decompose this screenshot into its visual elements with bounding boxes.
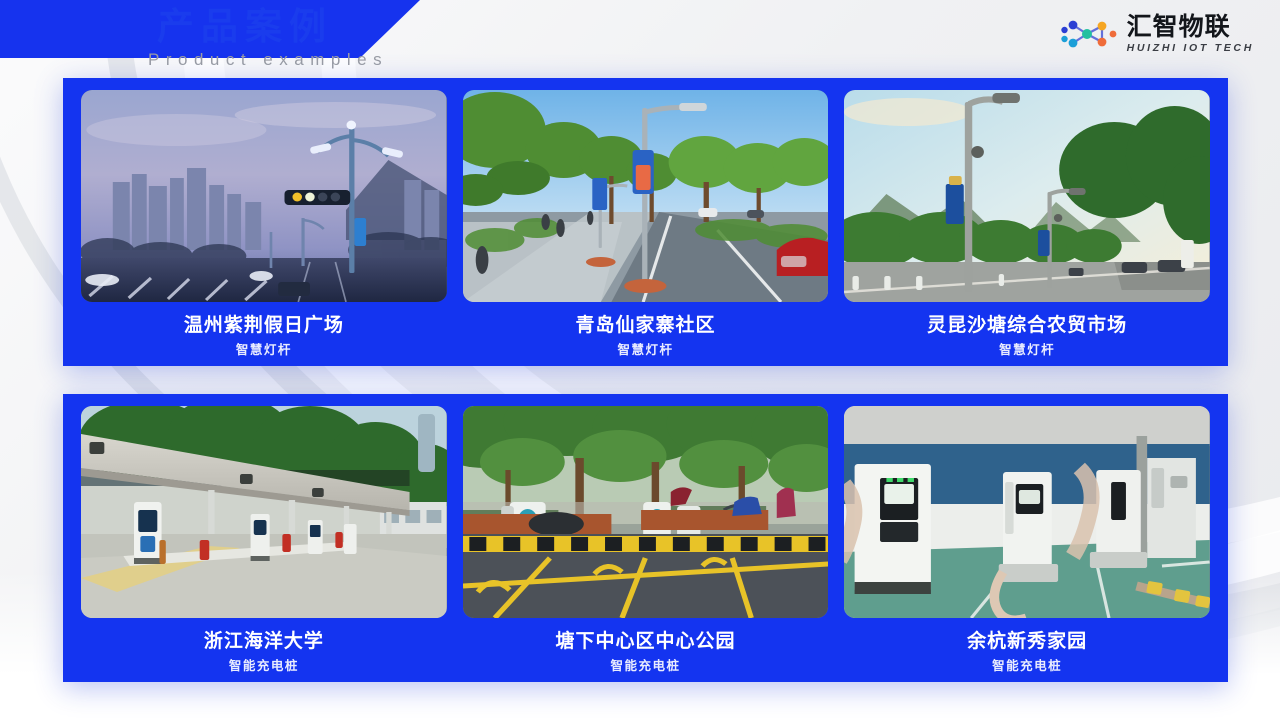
logo-name-en: HUIZHI IOT TECH <box>1127 41 1254 55</box>
canopy-charging-station-photo <box>81 406 447 618</box>
logo-name-zh: 汇智物联 <box>1127 14 1231 41</box>
page-subtitle: Product examples <box>148 50 388 70</box>
roadside-smart-pole-mountain-photo <box>844 90 1210 302</box>
case-card-list-row-2: 浙江海洋大学 智能充电桩 <box>63 394 1228 682</box>
case-card[interactable]: 余杭新秀家园 智能充电桩 <box>844 406 1210 682</box>
case-title: 青岛仙家寨社区 <box>576 314 716 338</box>
page-header: 产品案例 Product examples 汇智物 <box>0 0 1280 78</box>
case-subtitle: 智慧灯杆 <box>236 342 292 358</box>
dusk-city-street-smart-pole-photo <box>81 90 447 302</box>
case-subtitle: 智慧灯杆 <box>999 342 1055 358</box>
case-panel-row-2: 浙江海洋大学 智能充电桩 <box>63 394 1228 682</box>
case-title: 温州紫荆假日广场 <box>184 314 344 338</box>
case-card[interactable]: 温州紫荆假日广场 智慧灯杆 <box>81 90 447 366</box>
case-title: 浙江海洋大学 <box>204 630 324 654</box>
page-title: 产品案例 <box>157 3 333 51</box>
case-card-list-row-1: 温州紫荆假日广场 智慧灯杆 <box>63 78 1228 366</box>
case-card[interactable]: 浙江海洋大学 智能充电桩 <box>81 406 447 682</box>
case-subtitle: 智能充电桩 <box>611 658 681 674</box>
case-title: 余杭新秀家园 <box>967 630 1087 654</box>
green-boulevard-smart-pole-rendering <box>463 90 829 302</box>
case-title: 灵昆沙塘综合农贸市场 <box>927 314 1127 338</box>
case-card[interactable]: 青岛仙家寨社区 智慧灯杆 <box>463 90 829 366</box>
case-card[interactable]: 灵昆沙塘综合农贸市场 智慧灯杆 <box>844 90 1210 366</box>
case-subtitle: 智能充电桩 <box>229 658 299 674</box>
molecule-network-logo-icon <box>1061 13 1119 55</box>
case-subtitle: 智能充电桩 <box>992 658 1062 674</box>
case-panel-row-1: 温州紫荆假日广场 智慧灯杆 <box>63 78 1228 366</box>
outdoor-parking-charging-piles-photo <box>463 406 829 618</box>
indoor-garage-charging-cabinets-photo <box>844 406 1210 618</box>
case-title: 塘下中心区中心公园 <box>556 630 736 654</box>
case-subtitle: 智慧灯杆 <box>618 342 674 358</box>
case-card[interactable]: 塘下中心区中心公园 智能充电桩 <box>463 406 829 682</box>
brand-logo[interactable]: 汇智物联 HUIZHI IOT TECH <box>1061 13 1254 55</box>
